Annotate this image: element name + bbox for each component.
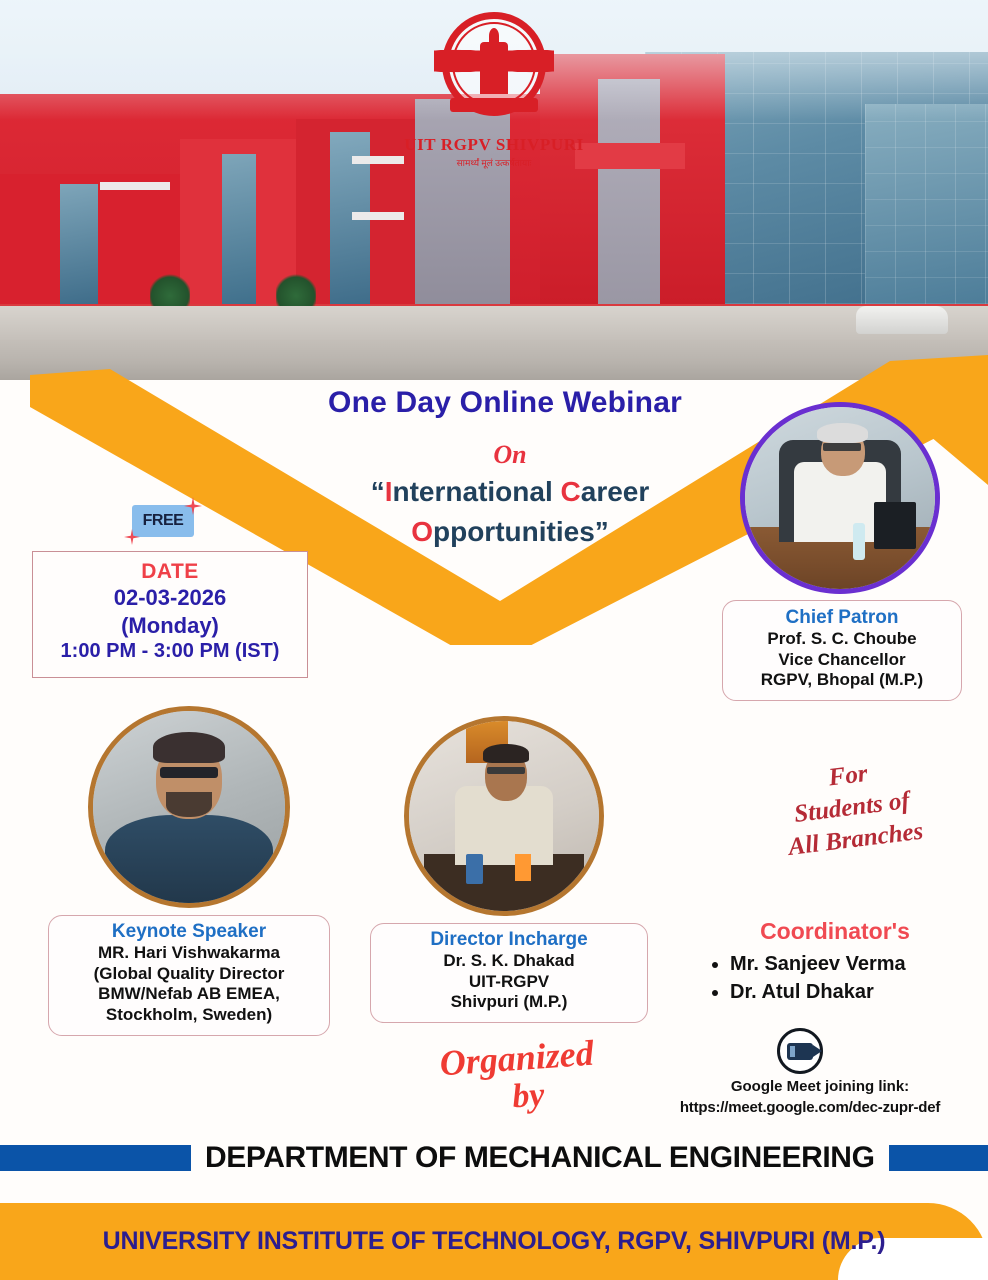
institute-footer-band: UNIVERSITY INSTITUTE OF TECHNOLOGY, RGPV… xyxy=(0,1203,988,1280)
topic-areer: areer xyxy=(581,476,650,507)
photo-hair xyxy=(153,732,226,763)
director-org: UIT-RGPV xyxy=(379,972,639,993)
chief-patron-org: RGPV, Bhopal (M.P.) xyxy=(731,670,953,691)
window-strip-b xyxy=(222,154,256,304)
audience-note: For Students of All Branches xyxy=(747,748,957,868)
director-heading: Director Incharge xyxy=(379,929,639,951)
chief-patron-card: Chief Patron Prof. S. C. Choube Vice Cha… xyxy=(722,600,962,701)
photo-bottle xyxy=(853,523,864,559)
keynote-line4: Stockholm, Sweden) xyxy=(57,1005,321,1026)
topic-i: I xyxy=(385,476,393,507)
video-camera-icon xyxy=(777,1028,823,1074)
topic-pportunities: pportunities xyxy=(433,516,595,547)
director-place: Shivpuri (M.P.) xyxy=(379,992,639,1013)
photo-desk-item xyxy=(466,854,483,884)
director-incharge-card: Director Incharge Dr. S. K. Dhakad UIT-R… xyxy=(370,923,648,1023)
date-heading: DATE xyxy=(43,560,297,584)
blue-bar-right xyxy=(889,1145,988,1171)
keynote-heading: Keynote Speaker xyxy=(57,921,321,943)
date-time: 1:00 PM - 3:00 PM (IST) xyxy=(43,639,297,664)
department-footer: DEPARTMENT OF MECHANICAL ENGINEERING xyxy=(0,1139,988,1177)
photo-hair xyxy=(483,744,529,763)
parked-car xyxy=(856,306,948,334)
photo-flag xyxy=(515,854,530,881)
keynote-line3: BMW/Nefab AB EMEA, xyxy=(57,984,321,1005)
coordinators-heading: Coordinator's xyxy=(690,918,980,945)
keynote-speaker-card: Keynote Speaker MR. Hari Vishwakarma (Gl… xyxy=(48,915,330,1036)
chief-patron-name: Prof. S. C. Choube xyxy=(731,629,953,650)
emblem-ribbon xyxy=(450,98,538,112)
rgpv-emblem-icon xyxy=(428,12,560,128)
institute-name: UNIVERSITY INSTITUTE OF TECHNOLOGY, RGPV… xyxy=(0,1227,988,1256)
list-item: Mr. Sanjeev Verma xyxy=(730,950,988,978)
director-incharge-photo xyxy=(404,716,604,916)
meet-link-label: Google Meet joining link: xyxy=(660,1078,980,1095)
director-name: Dr. S. K. Dhakad xyxy=(379,951,639,972)
topic-c: C xyxy=(561,476,581,507)
meet-link-url[interactable]: https://meet.google.com/dec-zupr-def xyxy=(630,1099,988,1116)
facade-accent-1 xyxy=(100,182,170,190)
department-name: DEPARTMENT OF MECHANICAL ENGINEERING xyxy=(205,1141,875,1175)
keynote-line2: (Global Quality Director xyxy=(57,964,321,985)
camera-glyph xyxy=(787,1043,813,1060)
window-strip-a xyxy=(60,184,98,304)
chief-patron-designation: Vice Chancellor xyxy=(731,650,953,671)
sparkle-icon-2 xyxy=(124,529,140,545)
institute-logo: UIT RGPV SHIVPURI सामर्थ्यं मूलं उत्कर्ष… xyxy=(0,12,988,169)
keynote-speaker-photo xyxy=(88,706,290,908)
photo-jacket xyxy=(105,815,274,903)
keynote-name: MR. Hari Vishwakarma xyxy=(57,943,321,964)
photo-hair xyxy=(817,423,868,443)
chief-patron-photo xyxy=(740,402,940,594)
chief-patron-heading: Chief Patron xyxy=(731,607,953,629)
date-info-box: DATE 02-03-2026 (Monday) 1:00 PM - 3:00 … xyxy=(32,551,308,678)
facade-accent-3 xyxy=(352,212,404,220)
webinar-poster: UIT RGPV SHIVPURI सामर्थ्यं मूलं उत्कर्ष… xyxy=(0,0,988,1280)
organized-by-text: Organized by xyxy=(396,1032,641,1123)
title-connector: On xyxy=(440,440,580,470)
photo-glasses xyxy=(823,443,861,450)
sparkle-icon-1 xyxy=(184,497,202,515)
blue-bar-left xyxy=(0,1145,191,1171)
photo-glasses xyxy=(160,767,218,779)
free-badge: FREE xyxy=(124,497,202,545)
photo-beard xyxy=(166,792,212,817)
topic-o: O xyxy=(411,516,433,547)
photo-glasses xyxy=(487,767,525,775)
tree-2 xyxy=(276,272,316,306)
coordinators-list: Mr. Sanjeev Verma Dr. Atul Dhakar xyxy=(712,950,988,1007)
plaza xyxy=(0,304,988,340)
logo-title: UIT RGPV SHIVPURI xyxy=(0,135,988,155)
page-title: One Day Online Webinar xyxy=(270,386,740,420)
date-value: 02-03-2026 xyxy=(43,584,297,612)
topic-nternational: nternational xyxy=(393,476,561,507)
photo-laptop xyxy=(874,502,916,549)
topic-quote-open: “ xyxy=(371,476,385,507)
topic-quote-close: ” xyxy=(595,516,609,547)
list-item: Dr. Atul Dhakar xyxy=(730,978,988,1006)
logo-motto: सामर्थ्यं मूलं उत्कर्षतायाः xyxy=(0,156,988,169)
date-day: (Monday) xyxy=(43,612,297,640)
webinar-topic: “International Career Opportunities” xyxy=(300,472,720,552)
tree-1 xyxy=(150,272,190,306)
emblem-torch xyxy=(480,42,508,94)
